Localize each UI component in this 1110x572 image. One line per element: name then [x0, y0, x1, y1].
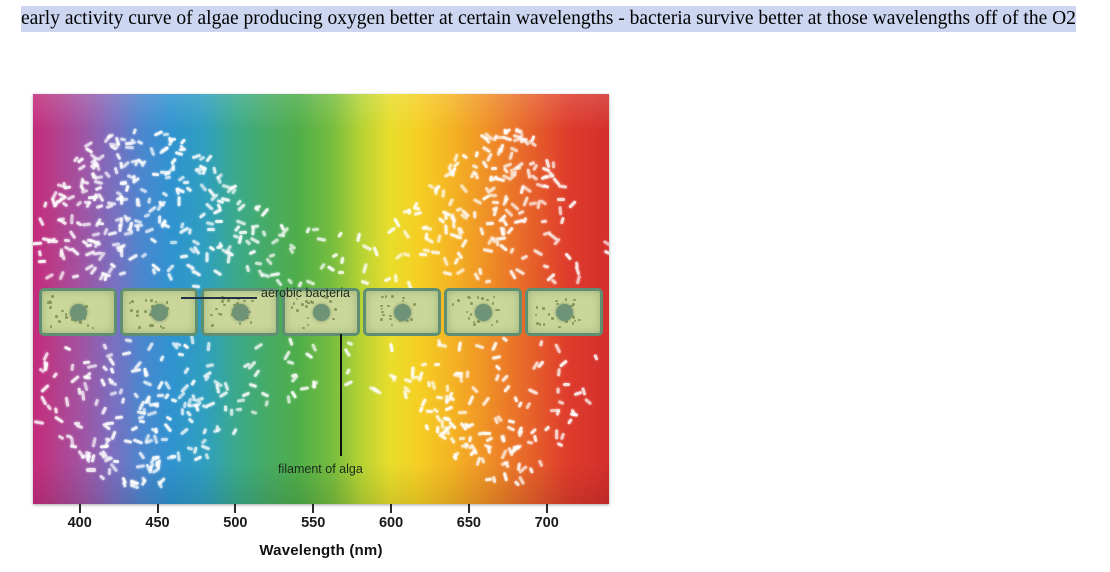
chloroplast-speck — [85, 305, 88, 308]
axis-tick — [312, 504, 314, 513]
cell-nucleus — [313, 304, 330, 321]
algal-cell — [120, 288, 198, 336]
cell-nucleus — [70, 304, 87, 321]
chloroplast-speck — [144, 310, 147, 313]
chloroplast-speck — [565, 320, 568, 323]
chloroplast-speck — [468, 297, 471, 300]
chloroplast-speck — [496, 320, 499, 323]
algal-cell — [525, 288, 603, 336]
aerobic-bacteria-label: aerobic bacteria — [261, 286, 350, 300]
chloroplast-speck — [535, 314, 538, 317]
chloroplast-speck — [565, 298, 568, 301]
chloroplast-speck — [380, 318, 383, 321]
axis-tick-label: 600 — [379, 515, 403, 531]
chloroplast-speck — [305, 305, 308, 308]
axis-tick — [390, 504, 392, 513]
chloroplast-speck — [402, 300, 405, 303]
axis-tick-label: 500 — [223, 515, 247, 531]
chloroplast-speck — [558, 326, 561, 329]
chloroplast-speck — [302, 327, 305, 330]
chloroplast-speck — [50, 325, 53, 328]
chloroplast-speck — [402, 297, 405, 300]
chloroplast-speck — [391, 324, 394, 327]
chloroplast-speck — [210, 314, 213, 317]
chloroplast-speck — [555, 300, 558, 303]
chloroplast-speck — [572, 303, 575, 306]
chloroplast-speck — [542, 307, 545, 310]
chloroplast-speck — [468, 317, 471, 320]
chloroplast-speck — [211, 324, 214, 327]
chloroplast-speck — [55, 315, 58, 318]
chloroplast-speck — [79, 321, 82, 324]
chloroplast-speck — [389, 315, 392, 318]
chloroplast-speck — [572, 322, 575, 325]
chloroplast-speck — [131, 300, 134, 303]
chloroplast-speck — [477, 296, 480, 299]
chloroplast-speck — [385, 295, 388, 298]
chloroplast-speck — [248, 311, 251, 314]
axis-tick — [546, 504, 548, 513]
chloroplast-speck — [150, 299, 153, 302]
chloroplast-speck — [573, 299, 576, 302]
aerobic-bacteria-leader-line — [181, 297, 257, 299]
chloroplast-speck — [58, 320, 61, 323]
chloroplast-speck — [382, 314, 385, 317]
chloroplast-speck — [387, 305, 390, 308]
axis-tick — [468, 504, 470, 513]
chloroplast-speck — [413, 303, 416, 306]
chloroplast-speck — [291, 306, 294, 309]
chloroplast-speck — [65, 316, 68, 319]
chloroplast-speck — [215, 308, 218, 311]
chloroplast-speck — [145, 299, 148, 302]
algal-cell — [363, 288, 441, 336]
chloroplast-speck — [223, 304, 226, 307]
chloroplast-speck — [130, 309, 133, 312]
axis-tick-label: 400 — [68, 515, 92, 531]
chloroplast-speck — [166, 301, 169, 304]
chloroplast-speck — [227, 299, 230, 302]
chloroplast-speck — [389, 318, 392, 321]
chloroplast-speck — [49, 306, 52, 309]
chloroplast-speck — [536, 306, 539, 309]
chloroplast-speck — [151, 324, 154, 327]
chloroplast-speck — [136, 314, 139, 317]
chloroplast-speck — [543, 323, 546, 326]
filament-of-alga-label: filament of alga — [278, 462, 363, 476]
chloroplast-speck — [481, 297, 484, 300]
axis-tick-label: 550 — [301, 515, 325, 531]
chloroplast-speck — [493, 296, 496, 299]
chloroplast-speck — [296, 309, 299, 312]
chloroplast-speck — [473, 323, 476, 326]
chloroplast-speck — [87, 324, 90, 327]
chloroplast-speck — [47, 301, 50, 304]
chloroplast-speck — [536, 322, 539, 325]
chloroplast-speck — [329, 300, 332, 303]
axis-tick-label: 450 — [145, 515, 169, 531]
axis-tick — [79, 504, 81, 513]
chloroplast-speck — [239, 322, 242, 325]
chloroplast-speck — [293, 302, 296, 305]
axis-tick — [157, 504, 159, 513]
algal-cell — [39, 288, 117, 336]
chloroplast-speck — [410, 318, 413, 321]
chloroplast-speck — [92, 327, 95, 330]
chloroplast-speck — [380, 305, 383, 308]
cell-nucleus — [475, 304, 492, 321]
axis-tick-label: 650 — [457, 515, 481, 531]
chloroplast-speck — [578, 319, 581, 322]
chloroplast-speck — [470, 302, 473, 305]
chloroplast-speck — [486, 299, 489, 302]
chloroplast-speck — [477, 320, 480, 323]
chloroplast-speck — [495, 309, 498, 312]
chloroplast-speck — [548, 313, 551, 316]
chloroplast-speck — [491, 324, 494, 327]
chloroplast-speck — [381, 308, 384, 311]
engelmann-experiment-figure: aerobic bacteria filament of alga Wavele… — [21, 88, 621, 566]
chloroplast-speck — [221, 300, 224, 303]
cell-nucleus — [556, 304, 573, 321]
highlighted-note-text: early activity curve of algae producing … — [21, 6, 1076, 32]
chloroplast-speck — [332, 318, 335, 321]
chloroplast-speck — [311, 301, 314, 304]
chloroplast-speck — [307, 317, 310, 320]
axis-tick — [234, 504, 236, 513]
axis-tick-label: 700 — [535, 515, 559, 531]
algal-cell — [444, 288, 522, 336]
chloroplast-speck — [551, 317, 554, 320]
chloroplast-speck — [381, 296, 384, 299]
chloroplast-speck — [220, 313, 223, 316]
note-text-block: early activity curve of algae producing … — [21, 4, 1103, 34]
chloroplast-speck — [391, 295, 394, 298]
cell-nucleus — [151, 304, 168, 321]
filament-leader-line — [340, 334, 342, 456]
wavelength-axis: Wavelength (nm) 400450500550600650700 — [33, 504, 609, 562]
axis-title: Wavelength (nm) — [33, 542, 609, 559]
chloroplast-speck — [470, 313, 473, 316]
chloroplast-speck — [136, 310, 139, 313]
chloroplast-speck — [452, 303, 455, 306]
chloroplast-speck — [250, 321, 253, 324]
chloroplast-speck — [466, 311, 469, 314]
spectrum-panel: aerobic bacteria filament of alga — [33, 94, 609, 504]
cell-nucleus — [394, 304, 411, 321]
chloroplast-speck — [243, 300, 246, 303]
chloroplast-speck — [51, 295, 54, 298]
chloroplast-speck — [301, 303, 304, 306]
chloroplast-speck — [492, 302, 495, 305]
chloroplast-speck — [251, 300, 254, 303]
chloroplast-speck — [61, 310, 64, 313]
chloroplast-speck — [138, 326, 141, 329]
chloroplast-speck — [162, 327, 165, 330]
chloroplast-speck — [307, 324, 310, 327]
chloroplast-speck — [334, 308, 337, 311]
chloroplast-speck — [539, 323, 542, 326]
chloroplast-speck — [457, 299, 460, 302]
cell-nucleus — [232, 304, 249, 321]
chloroplast-speck — [406, 320, 409, 323]
chloroplast-speck — [155, 301, 158, 304]
chloroplast-speck — [574, 320, 577, 323]
chloroplast-speck — [65, 313, 68, 316]
